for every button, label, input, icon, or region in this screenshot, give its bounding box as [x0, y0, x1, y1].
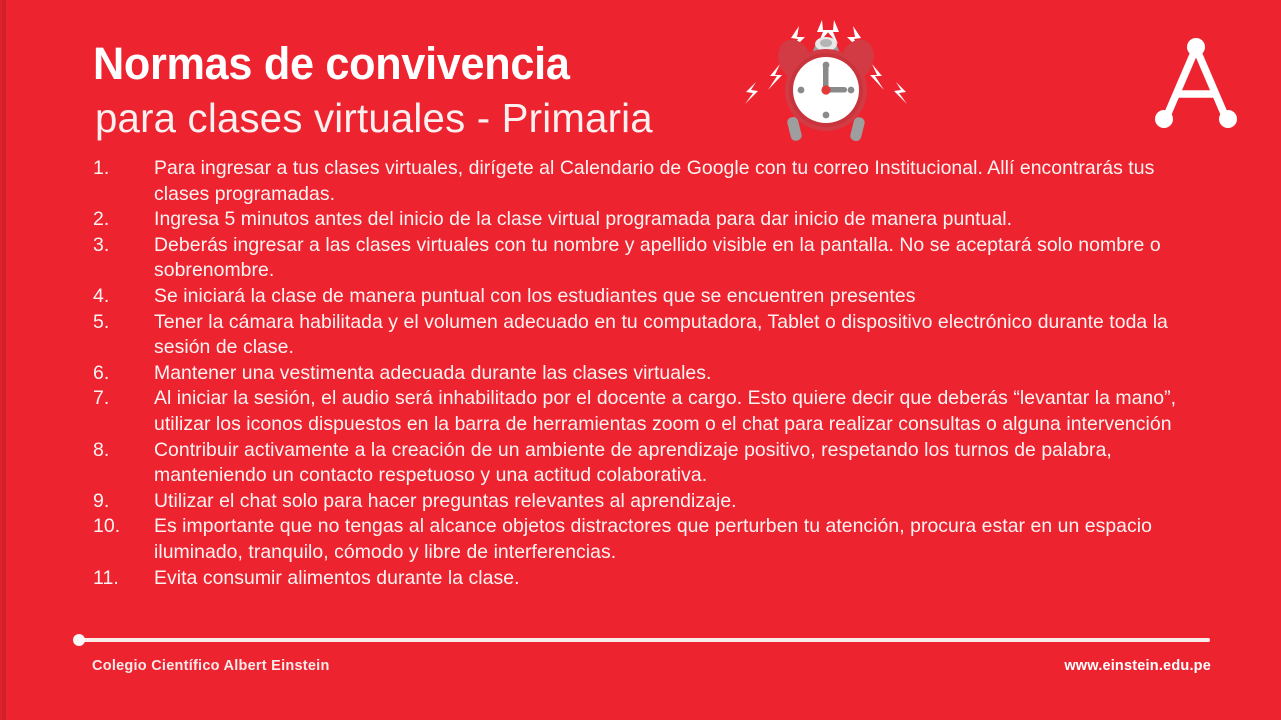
school-name: Colegio Científico Albert Einstein [92, 658, 330, 674]
list-item: 5.Tener la cámara habilitada y el volume… [88, 310, 1218, 361]
albert-einstein-a-logo [1142, 32, 1250, 136]
slide-footer: Colegio Científico Albert Einstein www.e… [0, 630, 1281, 720]
list-item: 11.Evita consumir alimentos durante la c… [88, 566, 1218, 592]
rule-number: 2. [88, 207, 154, 233]
rule-text: Ingresa 5 minutos antes del inicio de la… [154, 207, 1213, 233]
rule-number: 4. [88, 284, 154, 310]
list-item: 6.Mantener una vestimenta adecuada duran… [88, 361, 1218, 387]
footer-divider-line [80, 638, 1210, 642]
list-item: 1.Para ingresar a tus clases virtuales, … [88, 156, 1218, 207]
list-item: 4.Se iniciará la clase de manera puntual… [88, 284, 1218, 310]
rule-text: Deberás ingresar a las clases virtuales … [154, 233, 1213, 284]
list-item: 7.Al iniciar la sesión, el audio será in… [88, 386, 1218, 437]
rule-text: Evita consumir alimentos durante la clas… [154, 566, 1213, 592]
rule-number: 6. [88, 361, 154, 387]
rule-text: Es importante que no tengas al alcance o… [154, 514, 1213, 565]
page-title: Normas de convivencia [93, 38, 570, 90]
rule-text: Se iniciará la clase de manera puntual c… [154, 284, 1213, 310]
list-item: 8.Contribuir activamente a la creación d… [88, 438, 1218, 489]
rule-number: 5. [88, 310, 154, 336]
list-item: 2.Ingresa 5 minutos antes del inicio de … [88, 207, 1218, 233]
rule-text: Al iniciar la sesión, el audio será inha… [154, 386, 1213, 437]
rule-number: 8. [88, 438, 154, 464]
rule-number: 11. [88, 566, 154, 592]
alarm-clock-icon [736, 18, 916, 150]
page-subtitle: para clases virtuales - Primaria [95, 95, 653, 142]
rule-number: 7. [88, 386, 154, 412]
rule-text: Mantener una vestimenta adecuada durante… [154, 361, 1213, 387]
list-item: 9.Utilizar el chat solo para hacer pregu… [88, 489, 1218, 515]
rule-text: Tener la cámara habilitada y el volumen … [154, 310, 1213, 361]
rule-text: Para ingresar a tus clases virtuales, di… [154, 156, 1213, 207]
list-item: 10.Es importante que no tengas al alcanc… [88, 514, 1218, 565]
rule-text: Utilizar el chat solo para hacer pregunt… [154, 489, 1213, 515]
slide-canvas: Normas de convivencia para clases virtua… [0, 0, 1281, 720]
list-item: 3.Deberás ingresar a las clases virtuale… [88, 233, 1218, 284]
rule-number: 1. [88, 156, 154, 182]
slide-header: Normas de convivencia para clases virtua… [0, 0, 1281, 150]
rule-number: 10. [88, 514, 154, 540]
website-url[interactable]: www.einstein.edu.pe [1064, 658, 1211, 674]
rule-text: Contribuir activamente a la creación de … [154, 438, 1213, 489]
rule-number: 9. [88, 489, 154, 515]
rule-number: 3. [88, 233, 154, 259]
rules-list: 1.Para ingresar a tus clases virtuales, … [88, 156, 1218, 591]
footer-divider-dot [73, 634, 85, 646]
